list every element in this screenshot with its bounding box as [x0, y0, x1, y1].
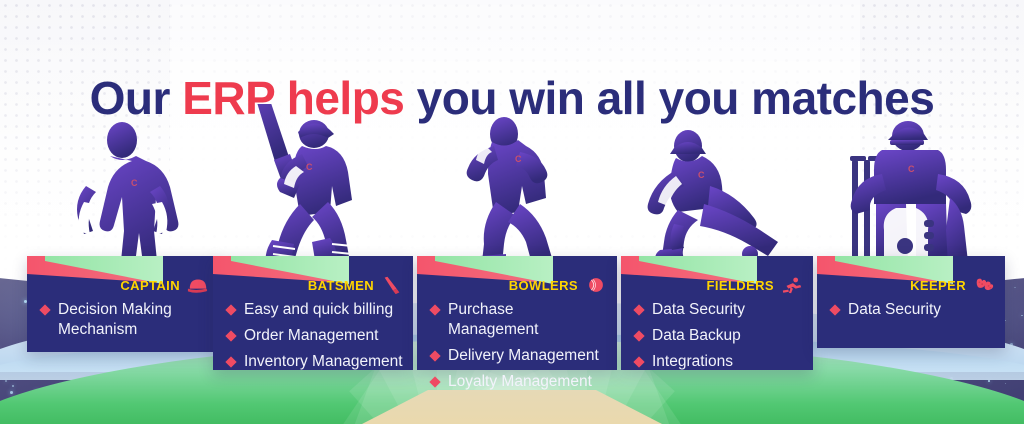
card-title-captain: CAPTAIN: [120, 278, 180, 293]
list-item: Integrations: [635, 352, 803, 372]
card-feature-list: Easy and quick billing Order Management …: [227, 300, 403, 378]
card-header: BATSMEN: [308, 276, 403, 294]
card-header: KEEPER: [910, 276, 995, 294]
diamond-bullet-icon: [225, 330, 236, 341]
diamond-bullet-icon: [429, 376, 440, 387]
list-item-label: Data Backup: [652, 326, 741, 346]
feature-card-fielders[interactable]: FIELDERS Data Security Data Backup: [621, 256, 813, 370]
keeper-silhouette: C: [838, 112, 1003, 267]
feature-card-bowlers[interactable]: BOWLERS Purchase Management Delivery Man…: [417, 256, 617, 370]
cricket-cap-icon: [187, 276, 209, 294]
diamond-bullet-icon: [633, 330, 644, 341]
diamond-bullet-icon: [633, 356, 644, 367]
card-title-keeper: KEEPER: [910, 278, 966, 293]
list-item: Data Security: [831, 300, 995, 320]
diamond-bullet-icon: [429, 304, 440, 315]
card-feature-list: Purchase Management Delivery Management …: [431, 300, 607, 398]
card-title-batsmen: BATSMEN: [308, 278, 374, 293]
running-fielder-icon: [781, 276, 803, 294]
keeper-gloves-icon: [973, 276, 995, 294]
list-item: Purchase Management: [431, 300, 607, 340]
diamond-bullet-icon: [225, 304, 236, 315]
list-item-label: Easy and quick billing: [244, 300, 393, 320]
title-part-1: Our: [90, 72, 183, 124]
card-header: FIELDERS: [707, 276, 803, 294]
card-feature-list: Data Security: [831, 300, 995, 326]
team-logo-badge: C: [908, 164, 915, 174]
card-title-fielders: FIELDERS: [707, 278, 774, 293]
list-item-label: Inventory Management: [244, 352, 403, 372]
diamond-bullet-icon: [39, 304, 50, 315]
bowler-silhouette: C: [458, 112, 613, 267]
cricket-bat-icon: [381, 276, 403, 294]
card-feature-list: Decision Making Mechanism: [41, 300, 209, 346]
cricket-ball-icon: [585, 276, 607, 294]
captain-silhouette: C: [62, 118, 207, 268]
erp-cricket-banner: Our ERP helps you win all you matches C: [0, 0, 1024, 424]
list-item-label: Data Security: [652, 300, 745, 320]
list-item-label: Purchase Management: [448, 300, 607, 340]
feature-card-captain[interactable]: CAPTAIN Decision Making Mechanism: [27, 256, 219, 352]
list-item-label: Integrations: [652, 352, 733, 372]
diamond-bullet-icon: [633, 304, 644, 315]
batsman-silhouette: C: [240, 104, 400, 269]
card-feature-list: Data Security Data Backup Integrations: [635, 300, 803, 378]
card-title-bowlers: BOWLERS: [509, 278, 578, 293]
feature-card-batsmen[interactable]: BATSMEN Easy and quick billing Order Man…: [213, 256, 413, 370]
list-item: Inventory Management: [227, 352, 403, 372]
diamond-bullet-icon: [829, 304, 840, 315]
list-item-label: Order Management: [244, 326, 378, 346]
card-header: BOWLERS: [509, 276, 607, 294]
list-item-label: Data Security: [848, 300, 941, 320]
team-logo-badge: C: [698, 170, 705, 180]
list-item: Data Backup: [635, 326, 803, 346]
list-item: Order Management: [227, 326, 403, 346]
list-item: Data Security: [635, 300, 803, 320]
team-logo-badge: C: [131, 178, 138, 188]
list-item-label: Loyalty Management: [448, 372, 592, 392]
list-item: Delivery Management: [431, 346, 607, 366]
list-item: Decision Making Mechanism: [41, 300, 209, 340]
list-item: Easy and quick billing: [227, 300, 403, 320]
feature-card-keeper[interactable]: KEEPER Data Security: [817, 256, 1005, 348]
fielder-silhouette: C: [638, 124, 813, 269]
team-logo-badge: C: [306, 162, 313, 172]
list-item: Loyalty Management: [431, 372, 607, 392]
list-item-label: Delivery Management: [448, 346, 599, 366]
card-header: CAPTAIN: [120, 276, 209, 294]
team-logo-badge: C: [515, 154, 522, 164]
diamond-bullet-icon: [429, 350, 440, 361]
list-item-label: Decision Making Mechanism: [58, 300, 172, 340]
diamond-bullet-icon: [225, 356, 236, 367]
